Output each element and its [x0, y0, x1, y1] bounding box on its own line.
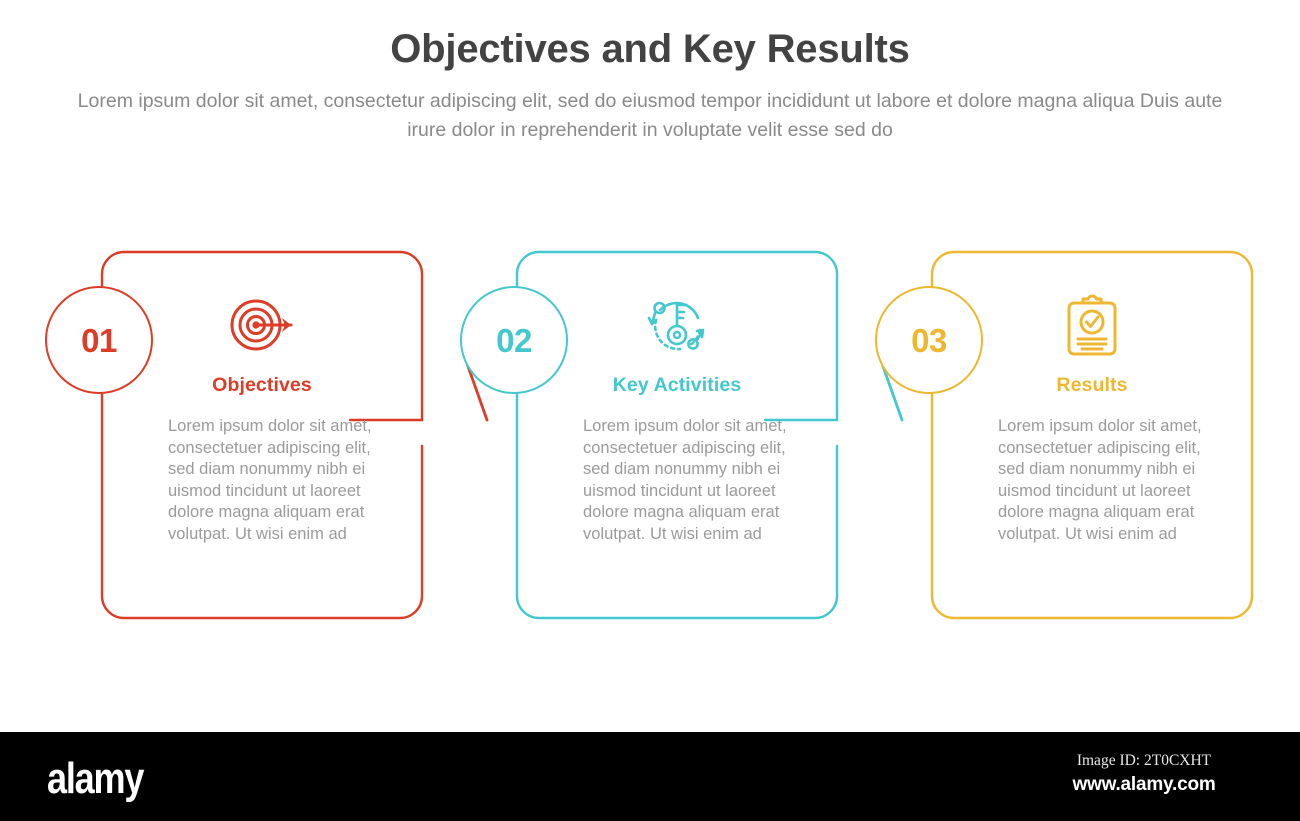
alamy-logo: alamy	[47, 754, 143, 804]
card-heading: Objectives	[212, 374, 312, 397]
okr-card-key-activities[interactable]: Key Activities Lorem ipsum dolor sit ame…	[515, 250, 839, 620]
card-number: 03	[911, 324, 947, 357]
card-content: Key Activities Lorem ipsum dolor sit ame…	[515, 250, 839, 620]
okr-card-objectives[interactable]: Objectives Lorem ipsum dolor sit amet, c…	[100, 250, 424, 620]
header: Objectives and Key Results Lorem ipsum d…	[0, 0, 1300, 145]
card-heading: Results	[1056, 374, 1127, 397]
card-heading: Key Activities	[613, 374, 742, 397]
card-body-text: Lorem ipsum dolor sit amet, consectetuer…	[966, 416, 1218, 545]
okr-card-results[interactable]: Results Lorem ipsum dolor sit amet, cons…	[930, 250, 1254, 620]
card-number: 01	[81, 324, 117, 357]
page-subtitle: Lorem ipsum dolor sit amet, consectetur …	[65, 87, 1235, 145]
card-number: 02	[496, 324, 532, 357]
alamy-watermark-bar: alamy Image ID: 2T0CXHT www.alamy.com	[0, 732, 1300, 821]
card-number-badge: 03	[875, 286, 983, 394]
card-content: Objectives Lorem ipsum dolor sit amet, c…	[100, 250, 424, 620]
clipboard-check-icon	[1055, 288, 1129, 362]
alamy-url: www.alamy.com	[1034, 772, 1254, 798]
card-body-text: Lorem ipsum dolor sit amet, consectetuer…	[136, 416, 388, 545]
page-title: Objectives and Key Results	[0, 26, 1300, 73]
card-number-badge: 02	[460, 286, 568, 394]
okr-cards-row: Objectives Lorem ipsum dolor sit amet, c…	[0, 240, 1300, 640]
watermark-info: Image ID: 2T0CXHT www.alamy.com	[1034, 750, 1254, 798]
card-number-badge: 01	[45, 286, 153, 394]
key-cycle-icon	[640, 288, 714, 362]
card-body-text: Lorem ipsum dolor sit amet, consectetuer…	[551, 416, 803, 545]
target-arrow-icon	[225, 288, 299, 362]
image-id-label: Image ID: 2T0CXHT	[1034, 750, 1254, 772]
card-content: Results Lorem ipsum dolor sit amet, cons…	[930, 250, 1254, 620]
